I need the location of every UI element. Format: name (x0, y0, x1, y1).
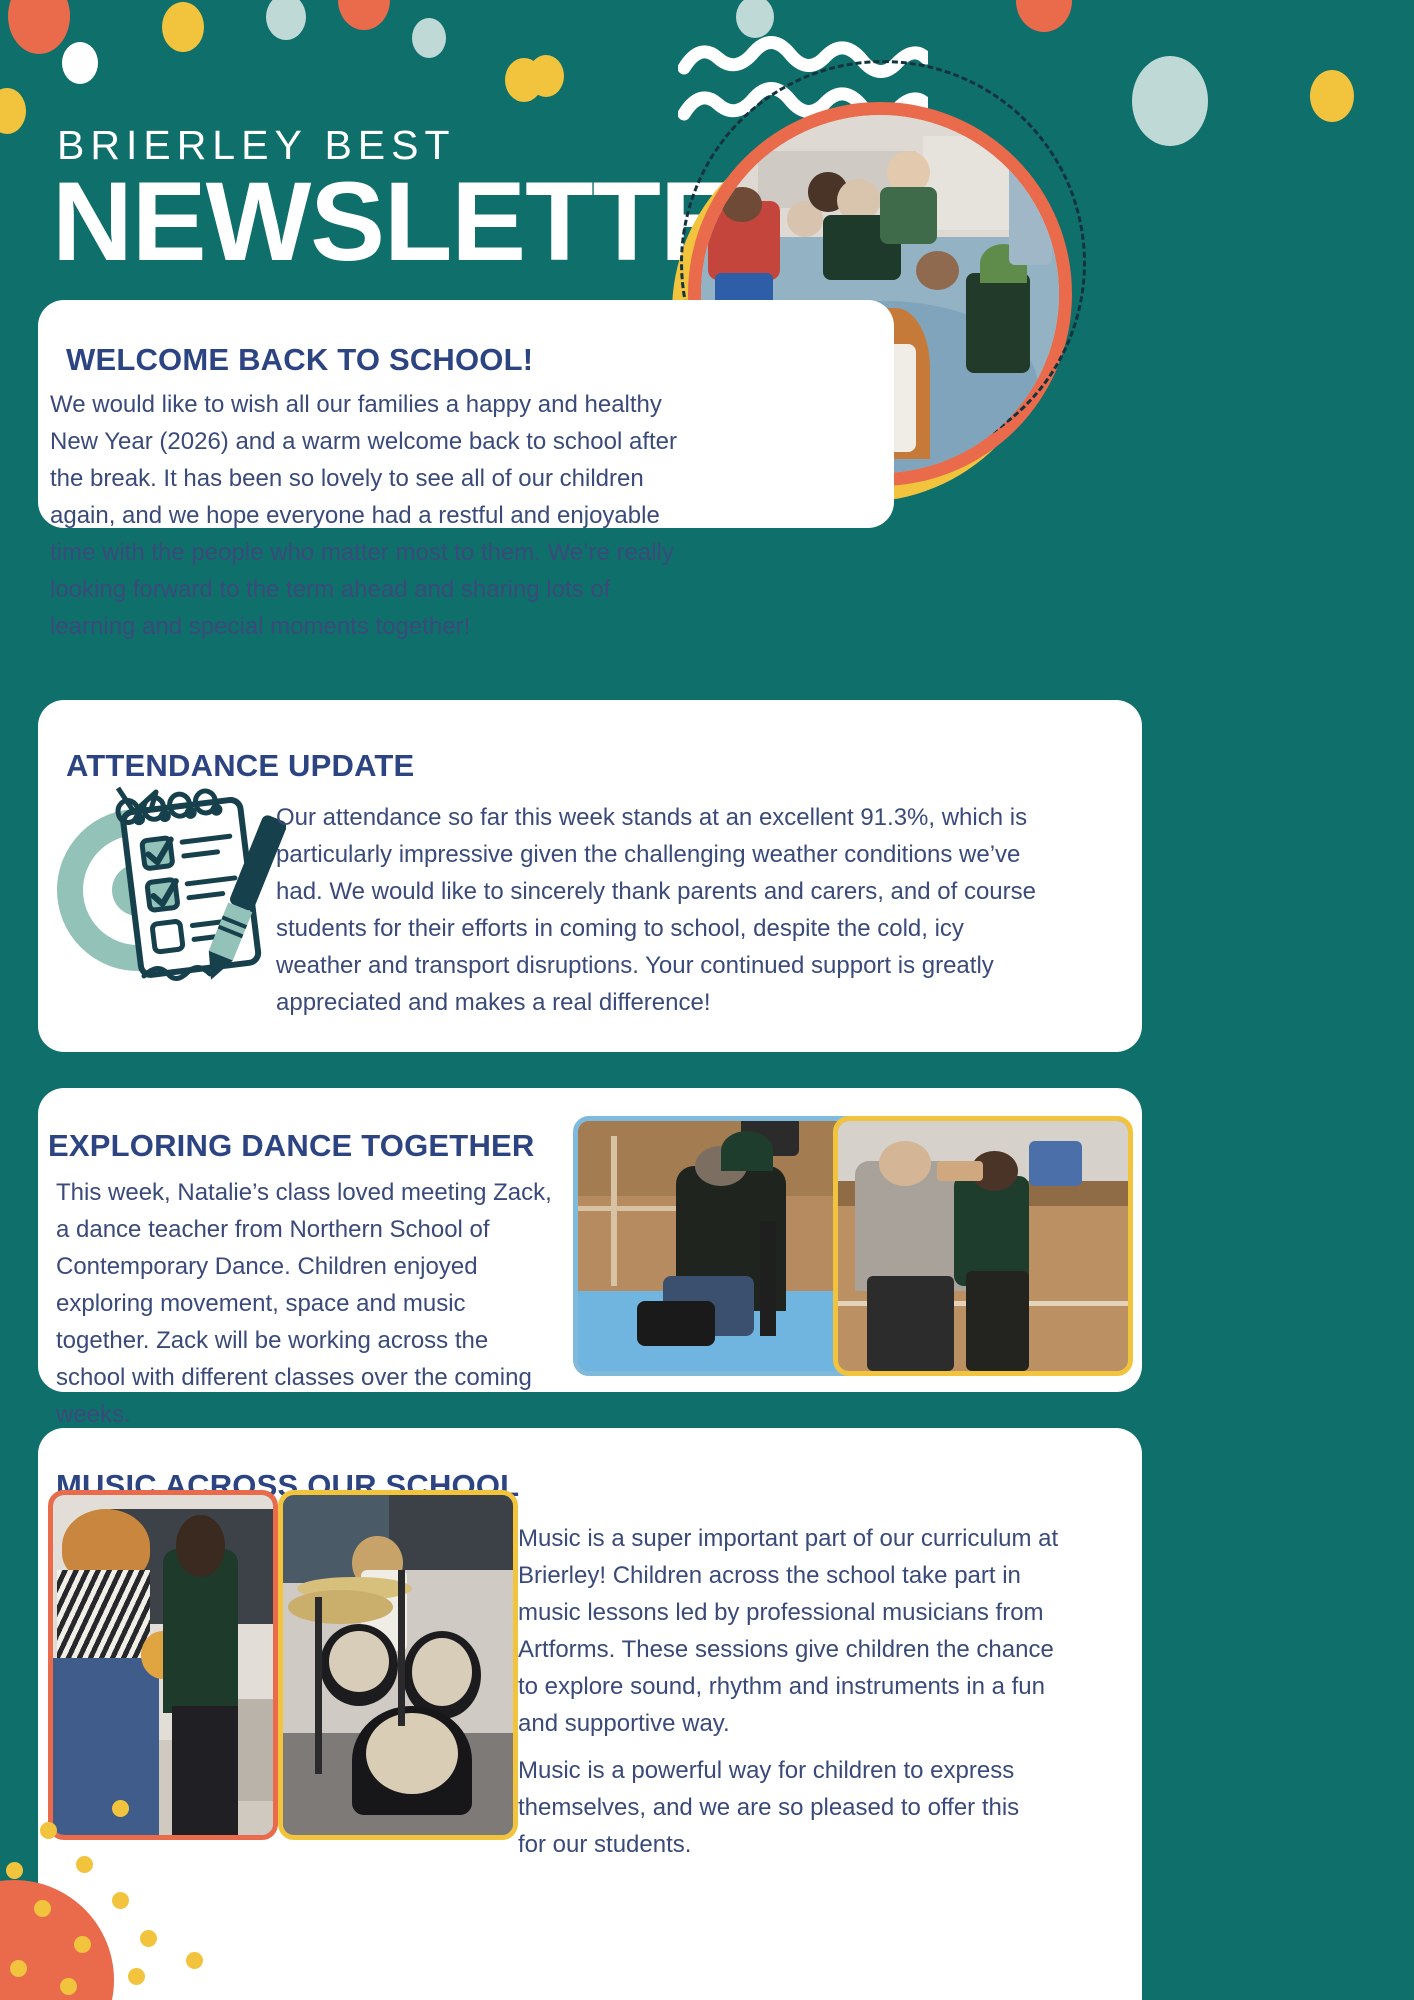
polka-dot (40, 1822, 57, 1839)
dance-heading: EXPLORING DANCE TOGETHER (48, 1128, 535, 1164)
checklist-target-icon (56, 770, 286, 1000)
polka-dot (186, 1952, 203, 1969)
section-card-attendance: ATTENDANCE UPDATE (38, 700, 1142, 1052)
polka-dot (74, 1936, 91, 1953)
attendance-body: Our attendance so far this week stands a… (276, 799, 1036, 1021)
section-card-music: MUSIC ACROSS OUR SCHOOL (38, 1428, 1142, 2000)
music-body-2: Music is a powerful way for children to … (518, 1752, 1038, 1863)
polka-dot (112, 1892, 129, 1909)
welcome-heading: WELCOME BACK TO SCHOOL! (66, 342, 533, 378)
music-photo-2 (278, 1490, 518, 1840)
welcome-body: We would like to wish all our families a… (50, 386, 702, 645)
polka-dot (76, 1856, 93, 1873)
polka-dot (6, 1862, 23, 1879)
polka-dot (10, 1960, 27, 1977)
polka-dot (34, 1900, 51, 1917)
polka-dot (140, 1930, 157, 1947)
section-card-dance: EXPLORING DANCE TOGETHER This week, Nata… (38, 1088, 1142, 1392)
polka-dot (128, 1968, 145, 1985)
music-photo-1 (48, 1490, 278, 1840)
polka-dot (112, 1800, 129, 1817)
newsletter-page: BRIERLEY BEST NEWSLETTER (0, 0, 1414, 2000)
dance-photo-2 (833, 1116, 1133, 1376)
section-card-welcome: WELCOME BACK TO SCHOOL! We would like to… (38, 300, 894, 528)
polka-dot (60, 1978, 77, 1995)
music-body-1: Music is a super important part of our c… (518, 1520, 1078, 1742)
dance-body: This week, Natalie’s class loved meeting… (56, 1174, 556, 1433)
